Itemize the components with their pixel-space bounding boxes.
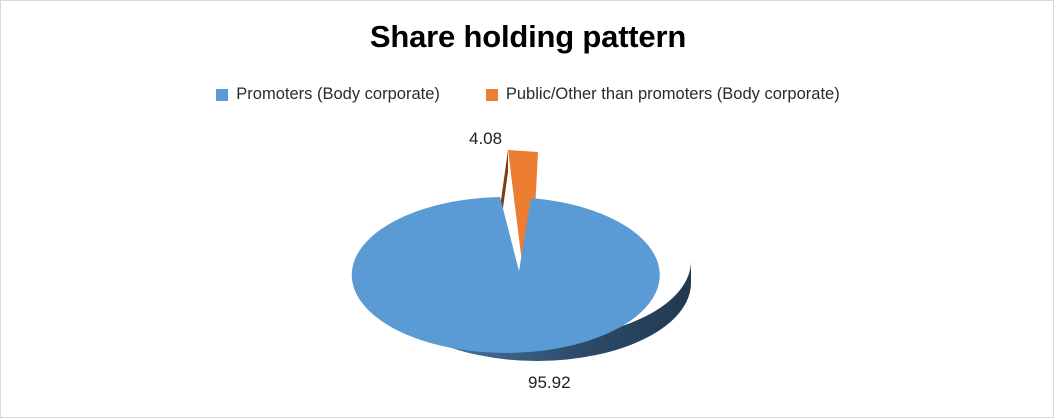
pie-chart-graphic: [1, 111, 1054, 417]
chart-container: Share holding pattern Promoters (Body co…: [0, 0, 1054, 418]
legend-swatch-public-icon: [486, 89, 498, 101]
legend-item-promoters[interactable]: Promoters (Body corporate): [216, 85, 440, 104]
data-label-public: 4.08: [469, 129, 502, 149]
legend-label-promoters: Promoters (Body corporate): [236, 85, 440, 104]
chart-legend: Promoters (Body corporate) Public/Other …: [1, 85, 1054, 104]
chart-title: Share holding pattern: [1, 18, 1054, 56]
data-label-promoters: 95.92: [528, 373, 571, 393]
plot-area: 95.92 4.08: [1, 111, 1054, 417]
pie-slice-promoters-top[interactable]: [352, 197, 660, 353]
legend-swatch-promoters-icon: [216, 89, 228, 101]
legend-item-public[interactable]: Public/Other than promoters (Body corpor…: [486, 85, 840, 104]
legend-label-public: Public/Other than promoters (Body corpor…: [506, 85, 840, 104]
